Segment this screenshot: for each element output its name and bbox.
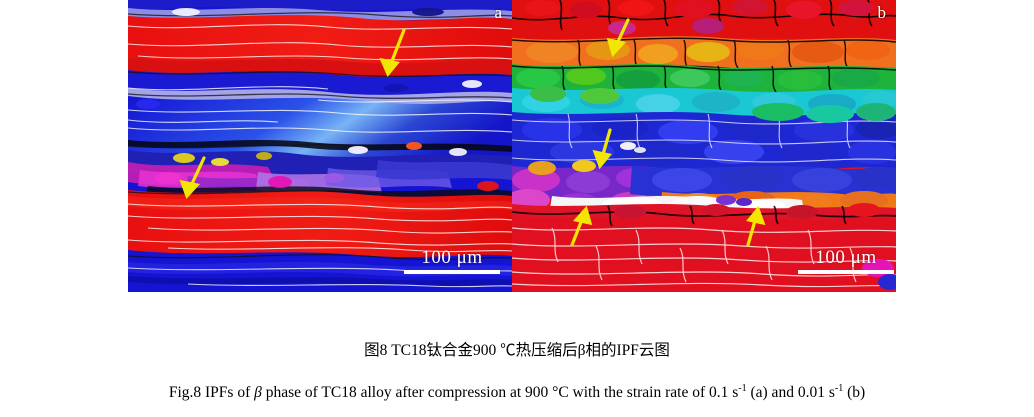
caption-english-part3: (a) and 0.01 s xyxy=(747,384,835,401)
panel-a-ipf-map: a 100 μm xyxy=(128,0,512,292)
figure-caption-english: Fig.8 IPFs of β phase of TC18 alloy afte… xyxy=(0,379,1034,403)
panel-b-scalebar-line xyxy=(798,270,894,274)
caption-english-beta-symbol: β xyxy=(254,384,262,401)
figure-caption-chinese: 图8 TC18钛合金900 ℃热压缩后β相的IPF云图 xyxy=(0,341,1034,361)
panel-a-scalebar-text: 100 μm xyxy=(404,247,500,268)
caption-english-part1: Fig.8 IPFs of xyxy=(169,384,254,401)
panel-a-scalebar: 100 μm xyxy=(404,247,500,274)
figure-container: a 100 μm xyxy=(0,0,1034,417)
panel-b-label: b xyxy=(878,4,887,21)
ebsd-ipf-micrograph: a 100 μm xyxy=(128,0,896,292)
panel-a-scalebar-line xyxy=(404,270,500,274)
caption-english-superscript-1: -1 xyxy=(738,383,746,394)
panel-b-ipf-map: b 100 μm xyxy=(512,0,896,292)
panel-b-scalebar-text: 100 μm xyxy=(798,247,894,268)
panel-b-scalebar: 100 μm xyxy=(798,247,894,274)
caption-chinese-text: 图8 TC18钛合金900 ℃热压缩后β相的IPF云图 xyxy=(364,342,670,359)
panel-a-label: a xyxy=(494,4,502,21)
caption-english-part4: (b) xyxy=(843,384,865,401)
caption-english-part2: phase of TC18 alloy after compression at… xyxy=(262,384,738,401)
caption-english-superscript-2: -1 xyxy=(835,383,843,394)
